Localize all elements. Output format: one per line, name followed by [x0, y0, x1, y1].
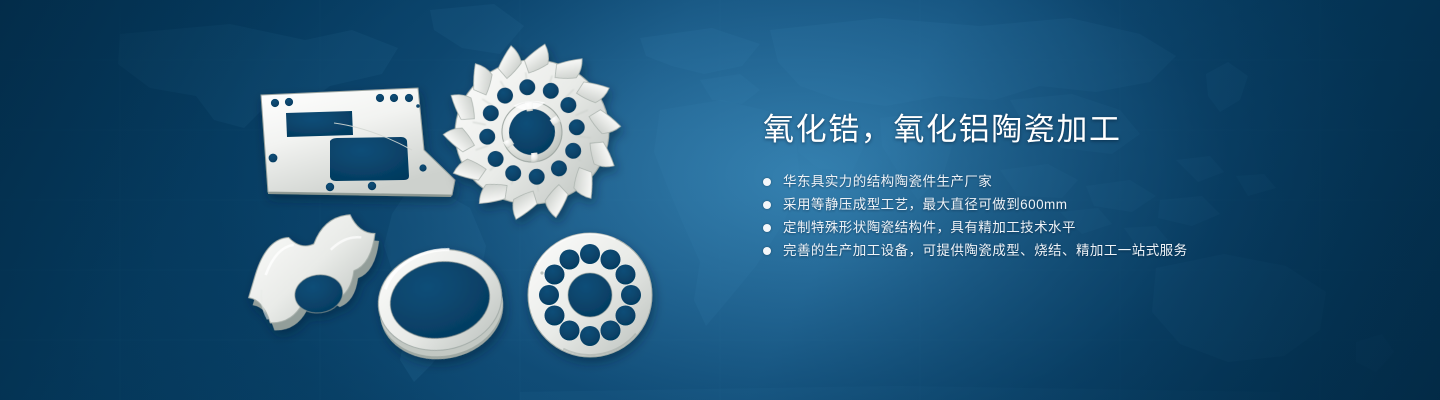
bullet-dot-icon: [763, 178, 771, 186]
ceramic-impeller-rotor: [434, 34, 630, 229]
list-item: 采用等静压成型工艺，最大直径可做到600mm: [763, 194, 1363, 216]
list-item: 完善的生产加工设备，可提供陶瓷成型、烧结、精加工一站式服务: [763, 240, 1363, 262]
list-item: 华东具实力的结构陶瓷件生产厂家: [763, 171, 1363, 193]
bullet-dot-icon: [763, 247, 771, 255]
feature-bullet-list: 华东具实力的结构陶瓷件生产厂家 采用等静压成型工艺，最大直径可做到600mm 定…: [763, 171, 1363, 262]
hero-banner: 氧化锆，氧化铝陶瓷加工 华东具实力的结构陶瓷件生产厂家 采用等静压成型工艺，最大…: [0, 0, 1440, 400]
list-item-label: 华东具实力的结构陶瓷件生产厂家: [783, 171, 992, 193]
bullet-dot-icon: [763, 201, 771, 209]
banner-copy: 氧化锆，氧化铝陶瓷加工 华东具实力的结构陶瓷件生产厂家 采用等静压成型工艺，最大…: [763, 112, 1363, 263]
list-item-label: 定制特殊形状陶瓷结构件，具有精加工技术水平: [783, 217, 1076, 239]
ceramic-ring: [370, 240, 511, 369]
page-title: 氧化锆，氧化铝陶瓷加工: [763, 112, 1363, 149]
list-item-label: 完善的生产加工设备，可提供陶瓷成型、烧结、精加工一站式服务: [783, 240, 1188, 262]
ceramic-perforated-disc: [505, 210, 674, 379]
list-item-label: 采用等静压成型工艺，最大直径可做到600mm: [783, 194, 1067, 216]
list-item: 定制特殊形状陶瓷结构件，具有精加工技术水平: [763, 217, 1363, 239]
bullet-dot-icon: [763, 224, 771, 232]
product-photo-collage: [0, 0, 720, 400]
ceramic-plate-with-cutouts: [261, 88, 455, 197]
ceramic-four-lobe-cross-part: [239, 211, 389, 334]
